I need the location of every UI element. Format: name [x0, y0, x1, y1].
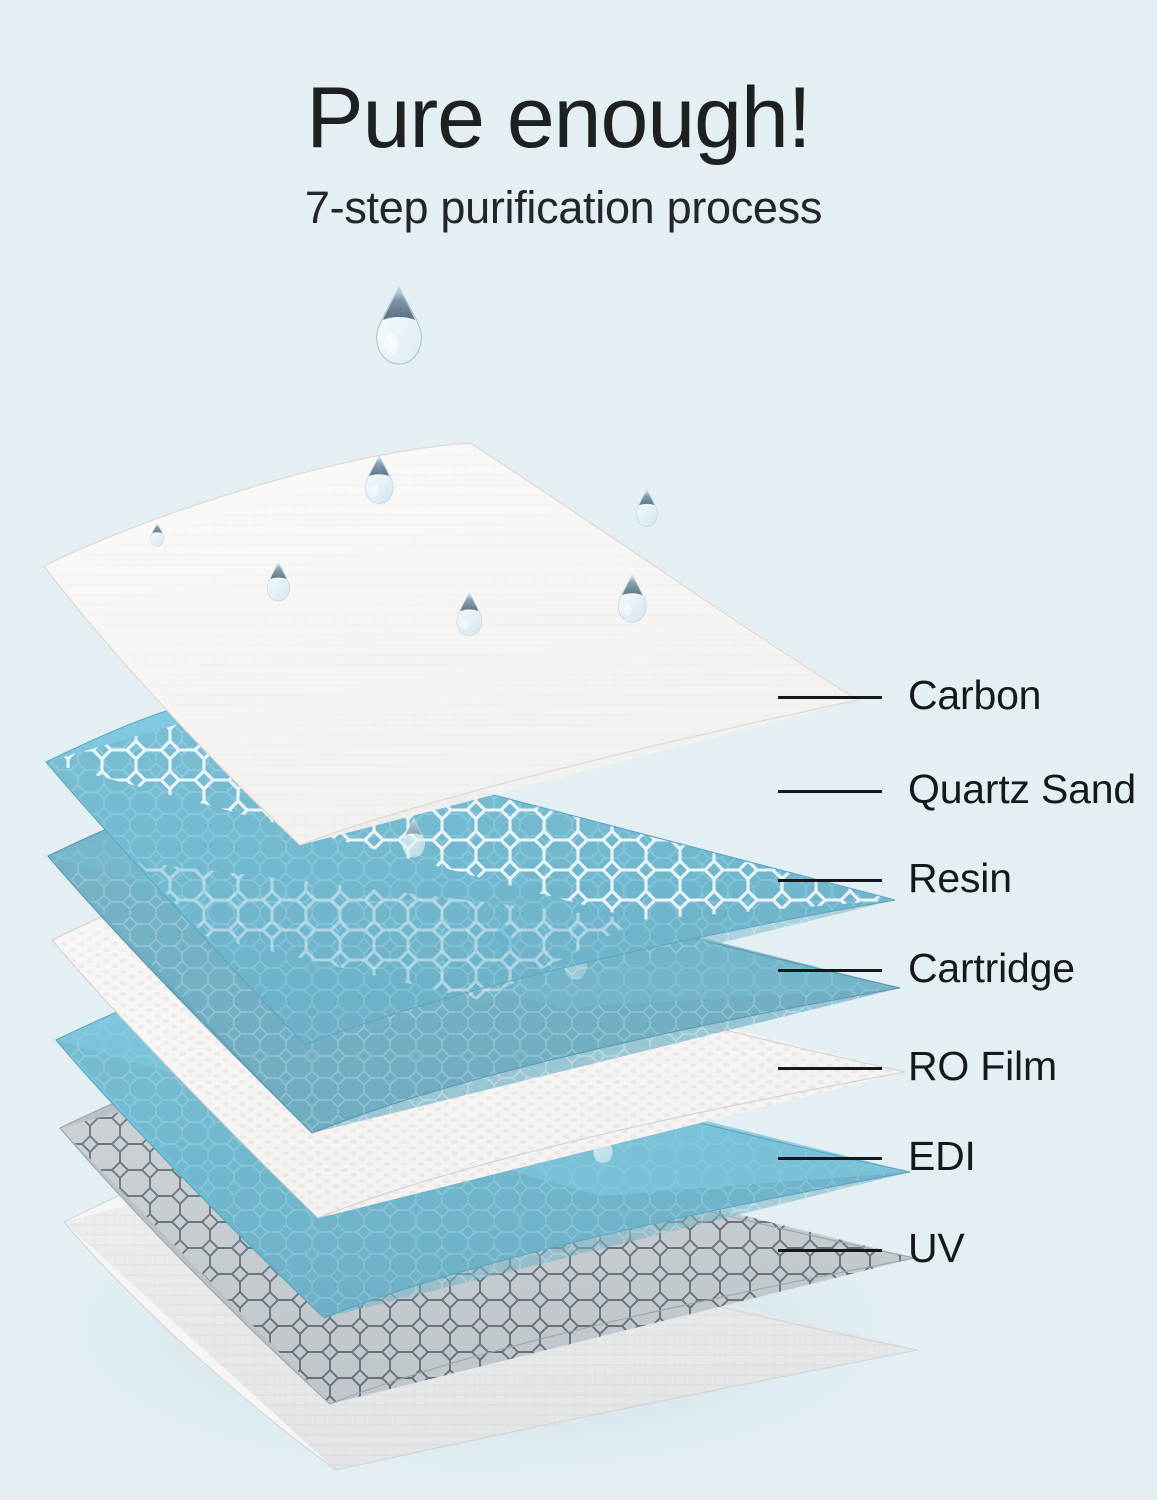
layer-callouts: Carbon Quartz Sand Resin Cartridge RO Fi… — [0, 0, 1157, 1500]
leader-line-carbon — [778, 696, 882, 699]
layer-label-ro-film: RO Film — [908, 1043, 1057, 1090]
leader-line-cartridge — [778, 969, 882, 972]
layer-label-carbon: Carbon — [908, 672, 1041, 719]
leader-line-resin — [778, 879, 882, 882]
layer-label-quartz-sand: Quartz Sand — [908, 766, 1136, 813]
layer-label-uv: UV — [908, 1225, 965, 1272]
leader-line-quartz-sand — [778, 790, 882, 793]
leader-line-edi — [778, 1157, 882, 1160]
leader-line-uv — [778, 1249, 882, 1252]
layer-label-cartridge: Cartridge — [908, 945, 1075, 992]
layer-label-resin: Resin — [908, 855, 1012, 902]
layer-label-edi: EDI — [908, 1133, 976, 1180]
leader-line-ro-film — [778, 1067, 882, 1070]
